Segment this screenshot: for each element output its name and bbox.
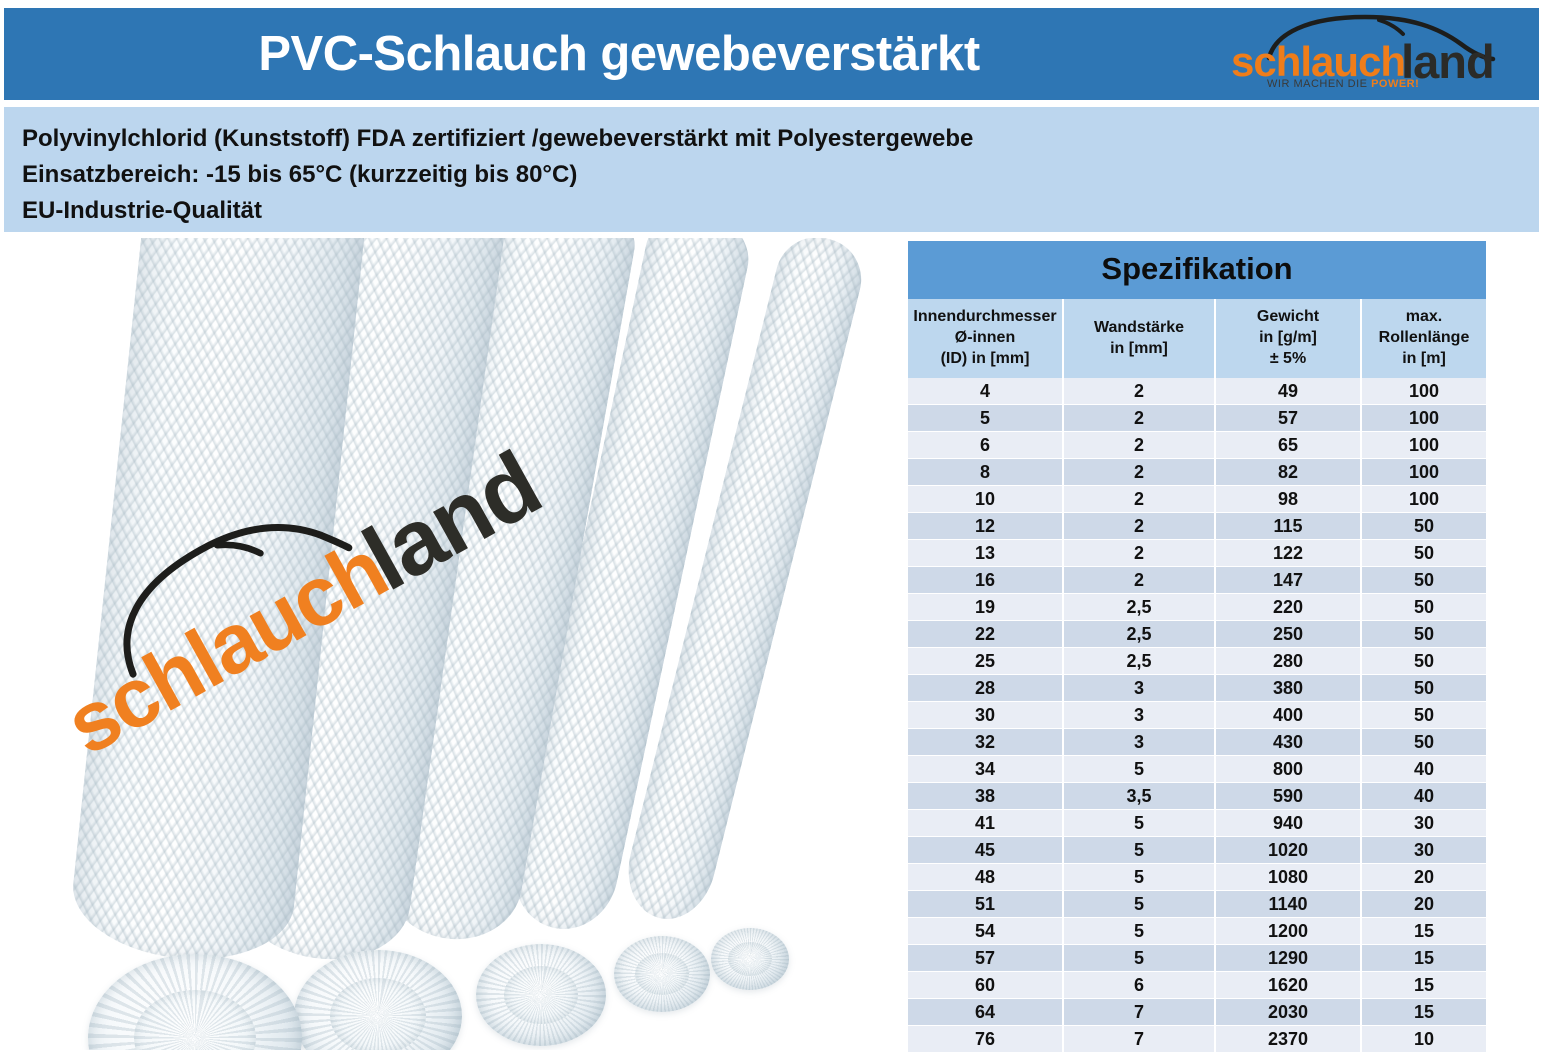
table-row: 383,559040 xyxy=(908,783,1486,810)
cell-weight: 49 xyxy=(1215,378,1361,405)
cell-weight: 1020 xyxy=(1215,837,1361,864)
cell-wall-thickness: 5 xyxy=(1063,918,1215,945)
cell-max-roll-length: 40 xyxy=(1361,783,1486,810)
table-row: 192,522050 xyxy=(908,594,1486,621)
cell-inner-diameter: 5 xyxy=(908,405,1063,432)
cell-inner-diameter: 45 xyxy=(908,837,1063,864)
brand-logo: schlauch land WIR MACHEN DIE POWER! xyxy=(1231,12,1521,98)
table-row: 32343050 xyxy=(908,729,1486,756)
cell-max-roll-length: 50 xyxy=(1361,648,1486,675)
col3-line3: ± 5% xyxy=(1270,350,1306,367)
cell-inner-diameter: 22 xyxy=(908,621,1063,648)
table-row: 16214750 xyxy=(908,567,1486,594)
description-band: Polyvinylchlorid (Kunststoff) FDA zertif… xyxy=(4,107,1539,232)
cell-max-roll-length: 20 xyxy=(1361,891,1486,918)
cell-inner-diameter: 57 xyxy=(908,945,1063,972)
product-photo: schlauch land xyxy=(4,238,894,1050)
cell-wall-thickness: 7 xyxy=(1063,1026,1215,1053)
cell-weight: 1290 xyxy=(1215,945,1361,972)
cell-wall-thickness: 7 xyxy=(1063,999,1215,1026)
cell-inner-diameter: 54 xyxy=(908,918,1063,945)
table-row: 30340050 xyxy=(908,702,1486,729)
cell-max-roll-length: 20 xyxy=(1361,864,1486,891)
table-row: 647203015 xyxy=(908,999,1486,1026)
cell-wall-thickness: 3 xyxy=(1063,729,1215,756)
cell-weight: 250 xyxy=(1215,621,1361,648)
hose-bore-2 xyxy=(330,978,426,1050)
col2-line2: in [mm] xyxy=(1110,340,1168,357)
cell-wall-thickness: 5 xyxy=(1063,945,1215,972)
table-row: 4249100 xyxy=(908,378,1486,405)
table-row: 12211550 xyxy=(908,513,1486,540)
cell-max-roll-length: 50 xyxy=(1361,594,1486,621)
cell-wall-thickness: 2 xyxy=(1063,486,1215,513)
table-row: 606162015 xyxy=(908,972,1486,999)
cell-max-roll-length: 50 xyxy=(1361,513,1486,540)
cell-weight: 800 xyxy=(1215,756,1361,783)
cell-weight: 400 xyxy=(1215,702,1361,729)
table-row: 41594030 xyxy=(908,810,1486,837)
cell-weight: 940 xyxy=(1215,810,1361,837)
hose-end-5 xyxy=(711,928,789,990)
column-header-wall-thickness: Wandstärke in [mm] xyxy=(1063,299,1215,378)
description-line-1: Polyvinylchlorid (Kunststoff) FDA zertif… xyxy=(22,121,1539,157)
cell-max-roll-length: 50 xyxy=(1361,540,1486,567)
cell-weight: 82 xyxy=(1215,459,1361,486)
cell-max-roll-length: 50 xyxy=(1361,702,1486,729)
cell-wall-thickness: 2 xyxy=(1063,405,1215,432)
cell-max-roll-length: 100 xyxy=(1361,378,1486,405)
hose-bore-4 xyxy=(635,953,689,995)
cell-weight: 2370 xyxy=(1215,1026,1361,1053)
spec-header-row: Innendurchmesser Ø-innen (ID) in [mm] Wa… xyxy=(908,299,1486,378)
cell-weight: 65 xyxy=(1215,432,1361,459)
col4-line1: max. xyxy=(1406,308,1442,325)
cell-wall-thickness: 2 xyxy=(1063,378,1215,405)
table-row: 222,525050 xyxy=(908,621,1486,648)
product-datasheet-page: PVC-Schlauch gewebeverstärkt schlauch la… xyxy=(0,0,1543,1054)
cell-wall-thickness: 5 xyxy=(1063,756,1215,783)
cell-wall-thickness: 2 xyxy=(1063,459,1215,486)
brand-tagline: WIR MACHEN DIE POWER! xyxy=(1267,78,1419,90)
cell-max-roll-length: 50 xyxy=(1361,567,1486,594)
col4-line3: in [m] xyxy=(1402,350,1446,367)
description-line-3: EU-Industrie-Qualität xyxy=(22,193,1539,229)
hose-end-3 xyxy=(476,944,606,1046)
cell-wall-thickness: 2 xyxy=(1063,540,1215,567)
cell-inner-diameter: 25 xyxy=(908,648,1063,675)
cell-max-roll-length: 10 xyxy=(1361,1026,1486,1053)
cell-inner-diameter: 4 xyxy=(908,378,1063,405)
hose-end-4 xyxy=(614,936,710,1012)
cell-max-roll-length: 15 xyxy=(1361,945,1486,972)
cell-weight: 280 xyxy=(1215,648,1361,675)
table-row: 5257100 xyxy=(908,405,1486,432)
table-row: 34580040 xyxy=(908,756,1486,783)
col1-line2: Ø-innen xyxy=(955,329,1015,346)
cell-weight: 430 xyxy=(1215,729,1361,756)
col3-line1: Gewicht xyxy=(1257,308,1319,325)
cell-inner-diameter: 41 xyxy=(908,810,1063,837)
hose-bore-3 xyxy=(504,966,578,1024)
cell-weight: 122 xyxy=(1215,540,1361,567)
brand-tagline-accent: POWER! xyxy=(1371,78,1419,90)
cell-inner-diameter: 48 xyxy=(908,864,1063,891)
cell-max-roll-length: 40 xyxy=(1361,756,1486,783)
cell-weight: 115 xyxy=(1215,513,1361,540)
description-line-2: Einsatzbereich: -15 bis 65°C (kurzzeitig… xyxy=(22,157,1539,193)
cell-inner-diameter: 30 xyxy=(908,702,1063,729)
specification-table: Spezifikation Innendurchmesser Ø-innen (… xyxy=(908,241,1486,1053)
cell-wall-thickness: 2,5 xyxy=(1063,621,1215,648)
cell-wall-thickness: 6 xyxy=(1063,972,1215,999)
spec-data-table: Innendurchmesser Ø-innen (ID) in [mm] Wa… xyxy=(908,299,1486,1053)
brand-name-secondary: land xyxy=(1401,42,1494,82)
cell-inner-diameter: 12 xyxy=(908,513,1063,540)
col3-line2: in [g/m] xyxy=(1259,329,1317,346)
table-row: 10298100 xyxy=(908,486,1486,513)
cell-inner-diameter: 51 xyxy=(908,891,1063,918)
table-row: 6265100 xyxy=(908,432,1486,459)
cell-weight: 2030 xyxy=(1215,999,1361,1026)
cell-wall-thickness: 2 xyxy=(1063,432,1215,459)
cell-max-roll-length: 30 xyxy=(1361,837,1486,864)
cell-weight: 1080 xyxy=(1215,864,1361,891)
col1-line1: Innendurchmesser xyxy=(913,308,1056,325)
cell-weight: 1140 xyxy=(1215,891,1361,918)
cell-max-roll-length: 50 xyxy=(1361,621,1486,648)
cell-inner-diameter: 76 xyxy=(908,1026,1063,1053)
cell-max-roll-length: 15 xyxy=(1361,999,1486,1026)
table-row: 575129015 xyxy=(908,945,1486,972)
column-header-weight: Gewicht in [g/m] ± 5% xyxy=(1215,299,1361,378)
cell-weight: 1200 xyxy=(1215,918,1361,945)
cell-wall-thickness: 5 xyxy=(1063,810,1215,837)
cell-inner-diameter: 16 xyxy=(908,567,1063,594)
cell-max-roll-length: 50 xyxy=(1361,729,1486,756)
cell-inner-diameter: 8 xyxy=(908,459,1063,486)
cell-inner-diameter: 6 xyxy=(908,432,1063,459)
cell-max-roll-length: 100 xyxy=(1361,432,1486,459)
page-title: PVC-Schlauch gewebeverstärkt xyxy=(4,26,1234,82)
table-row: 252,528050 xyxy=(908,648,1486,675)
cell-inner-diameter: 19 xyxy=(908,594,1063,621)
column-header-max-roll-length: max. Rollenlänge in [m] xyxy=(1361,299,1486,378)
spec-table-head: Innendurchmesser Ø-innen (ID) in [mm] Wa… xyxy=(908,299,1486,378)
cell-wall-thickness: 3 xyxy=(1063,675,1215,702)
cell-max-roll-length: 100 xyxy=(1361,405,1486,432)
cell-wall-thickness: 2,5 xyxy=(1063,594,1215,621)
cell-weight: 590 xyxy=(1215,783,1361,810)
cell-weight: 380 xyxy=(1215,675,1361,702)
cell-wall-thickness: 3,5 xyxy=(1063,783,1215,810)
cell-max-roll-length: 50 xyxy=(1361,675,1486,702)
cell-inner-diameter: 32 xyxy=(908,729,1063,756)
table-row: 13212250 xyxy=(908,540,1486,567)
cell-weight: 1620 xyxy=(1215,972,1361,999)
cell-weight: 147 xyxy=(1215,567,1361,594)
column-header-inner-diameter: Innendurchmesser Ø-innen (ID) in [mm] xyxy=(908,299,1063,378)
col4-line2: Rollenlänge xyxy=(1379,329,1470,346)
cell-max-roll-length: 15 xyxy=(1361,972,1486,999)
cell-wall-thickness: 5 xyxy=(1063,891,1215,918)
table-row: 28338050 xyxy=(908,675,1486,702)
cell-weight: 57 xyxy=(1215,405,1361,432)
title-banner: PVC-Schlauch gewebeverstärkt schlauch la… xyxy=(4,8,1539,100)
col2-line1: Wandstärke xyxy=(1094,319,1184,336)
cell-inner-diameter: 38 xyxy=(908,783,1063,810)
cell-inner-diameter: 13 xyxy=(908,540,1063,567)
cell-wall-thickness: 3 xyxy=(1063,702,1215,729)
cell-inner-diameter: 60 xyxy=(908,972,1063,999)
hose-end-2 xyxy=(294,950,462,1050)
cell-wall-thickness: 2,5 xyxy=(1063,648,1215,675)
hose-bore-1 xyxy=(134,990,256,1050)
hose-bore-5 xyxy=(728,942,772,976)
cell-max-roll-length: 30 xyxy=(1361,810,1486,837)
table-row: 485108020 xyxy=(908,864,1486,891)
cell-weight: 220 xyxy=(1215,594,1361,621)
cell-wall-thickness: 5 xyxy=(1063,864,1215,891)
table-row: 767237010 xyxy=(908,1026,1486,1053)
brand-name-primary: schlauch xyxy=(1231,42,1405,82)
hose-end-1 xyxy=(88,954,302,1050)
table-row: 8282100 xyxy=(908,459,1486,486)
cell-inner-diameter: 28 xyxy=(908,675,1063,702)
cell-wall-thickness: 5 xyxy=(1063,837,1215,864)
col1-line3: (ID) in [mm] xyxy=(941,350,1030,367)
cell-inner-diameter: 64 xyxy=(908,999,1063,1026)
brand-tagline-prefix: WIR MACHEN DIE xyxy=(1267,78,1371,90)
cell-wall-thickness: 2 xyxy=(1063,513,1215,540)
table-row: 545120015 xyxy=(908,918,1486,945)
cell-max-roll-length: 100 xyxy=(1361,459,1486,486)
cell-inner-diameter: 34 xyxy=(908,756,1063,783)
cell-weight: 98 xyxy=(1215,486,1361,513)
cell-inner-diameter: 10 xyxy=(908,486,1063,513)
table-row: 455102030 xyxy=(908,837,1486,864)
cell-max-roll-length: 100 xyxy=(1361,486,1486,513)
spec-table-title: Spezifikation xyxy=(908,241,1486,299)
cell-max-roll-length: 15 xyxy=(1361,918,1486,945)
spec-table-body: 4249100525710062651008282100102981001221… xyxy=(908,378,1486,1053)
table-row: 515114020 xyxy=(908,891,1486,918)
cell-wall-thickness: 2 xyxy=(1063,567,1215,594)
